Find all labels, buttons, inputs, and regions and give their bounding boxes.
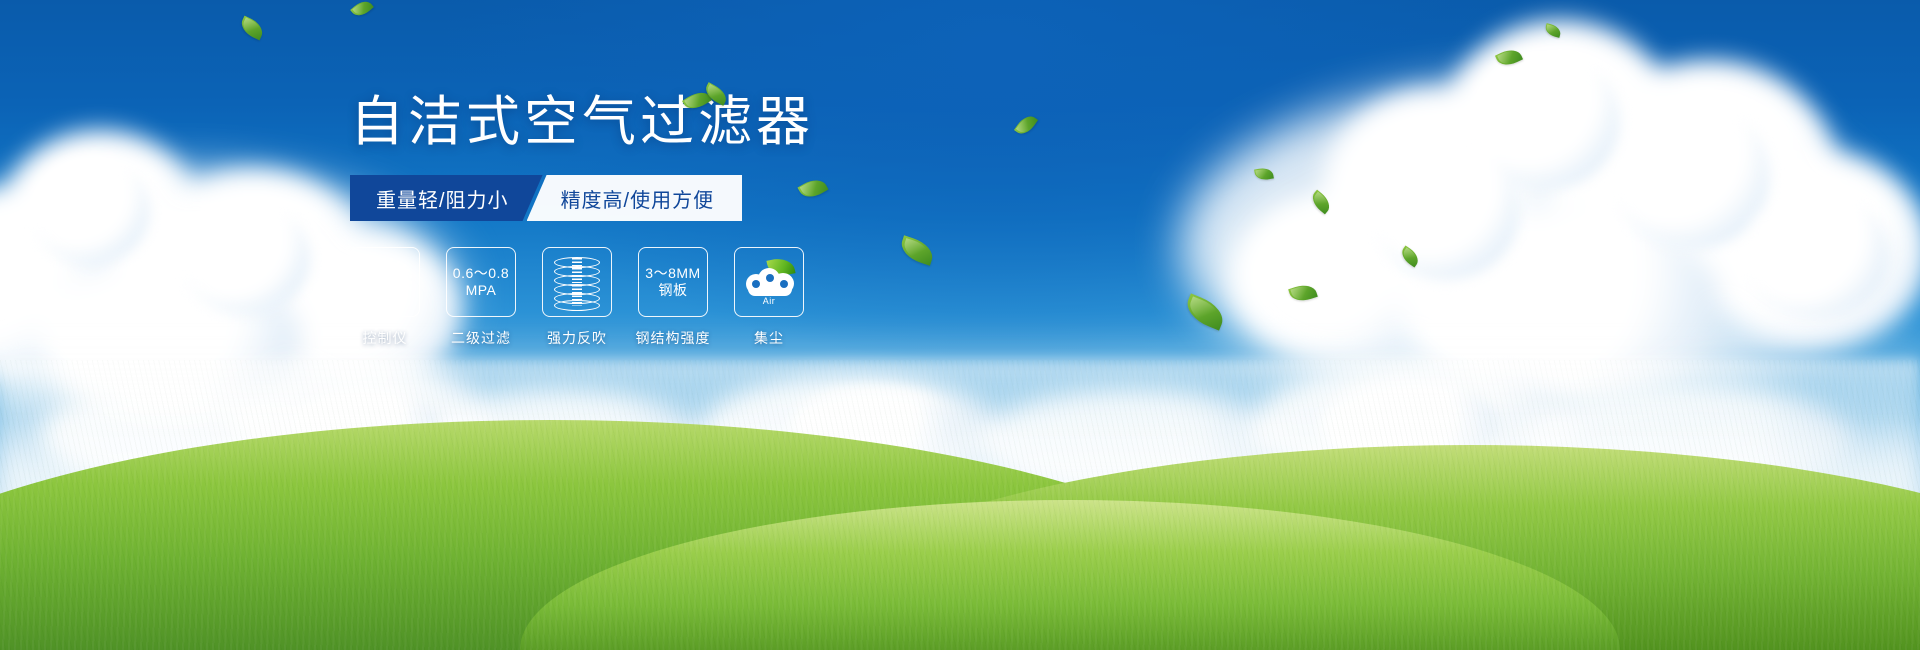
badge-row: 重量轻/阻力小 精度高/使用方便 <box>350 175 970 221</box>
gauge-icon: NO OFF <box>358 255 412 309</box>
feature-row: NO OFF 控制仪 0.6～0.8 MPA 二级过滤 <box>350 247 970 348</box>
feature-item-pressure[interactable]: 0.6～0.8 MPA 二级过滤 <box>446 247 516 348</box>
steel-value-line1: 3～8MM <box>645 265 700 283</box>
feature-box <box>542 247 612 317</box>
grass-field <box>0 360 1920 650</box>
gauge-label-off: OFF <box>400 301 413 307</box>
feature-item-backblow[interactable]: 强力反吹 <box>542 247 612 348</box>
page-title: 自洁式空气过滤器 <box>350 95 970 149</box>
gauge-label-no: NO <box>357 282 367 288</box>
air-label: Air <box>742 296 796 306</box>
coil-filter-icon <box>554 256 600 308</box>
steel-value-line2: 钢板 <box>659 282 688 300</box>
feature-box: 3～8MM 钢板 <box>638 247 708 317</box>
feature-box: NO OFF <box>350 247 420 317</box>
feature-item-controller[interactable]: NO OFF 控制仪 <box>350 247 420 348</box>
feature-caption: 集尘 <box>754 328 784 348</box>
title-leaf-decoration <box>680 83 740 123</box>
badge-label: 重量轻/阻力小 <box>376 184 509 213</box>
badge-lightweight[interactable]: 重量轻/阻力小 <box>350 175 543 221</box>
cloud-air-icon: Air <box>742 260 796 304</box>
feature-item-dustcollect[interactable]: Air 集尘 <box>734 247 804 348</box>
pressure-value-line2: MPA <box>466 282 497 300</box>
badge-label: 精度高/使用方便 <box>561 184 715 213</box>
feature-caption: 强力反吹 <box>547 328 607 348</box>
product-banner: 自洁式空气过滤器 重量轻/阻力小 精度高/使用方便 <box>0 0 1920 650</box>
feature-caption: 控制仪 <box>363 328 408 348</box>
feature-item-steel[interactable]: 3～8MM 钢板 钢结构强度 <box>638 247 708 348</box>
pressure-value-line1: 0.6～0.8 <box>453 265 509 283</box>
feature-box: Air <box>734 247 804 317</box>
banner-content: 自洁式空气过滤器 重量轻/阻力小 精度高/使用方便 <box>350 95 970 348</box>
badge-precision[interactable]: 精度高/使用方便 <box>527 175 743 221</box>
feature-box: 0.6～0.8 MPA <box>446 247 516 317</box>
feature-caption: 钢结构强度 <box>636 328 711 348</box>
feature-caption: 二级过滤 <box>451 328 511 348</box>
